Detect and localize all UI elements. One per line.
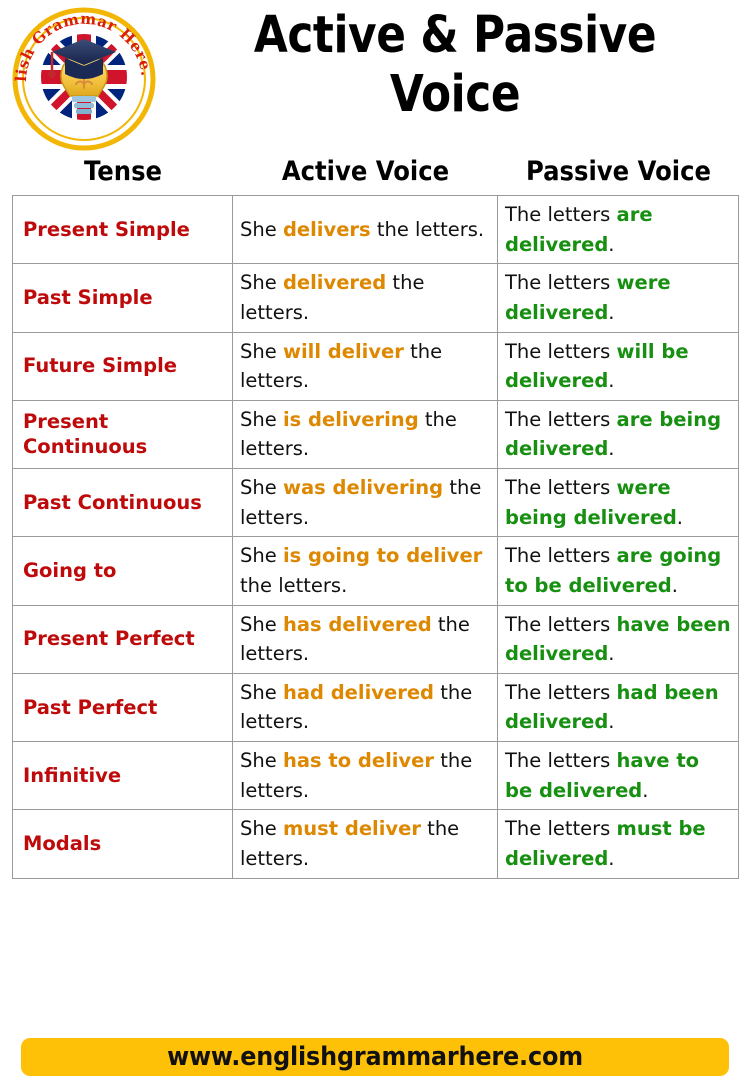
verb-phrase-active: had delivered — [283, 681, 434, 704]
sentence-pre: The letters — [505, 340, 617, 363]
page-title: Active & Passive Voice — [210, 6, 700, 124]
sentence-pre: The letters — [505, 544, 617, 567]
passive-voice-sentence: The letters must be delivered. — [498, 810, 739, 878]
table-row: Infinitive She has to deliver the letter… — [13, 742, 739, 810]
verb-phrase-active: delivers — [283, 218, 371, 241]
tense-label: Present Perfect — [13, 605, 233, 673]
active-voice-sentence: She will deliver the letters. — [233, 332, 498, 400]
english-grammar-here-logo-icon: English Grammar Here.Com — [8, 6, 160, 154]
verb-phrase-active: must deliver — [283, 817, 421, 840]
header: English Grammar Here.Com Active & Passiv… — [0, 0, 750, 152]
voice-table-wrapper: Tense Active Voice Passive Voice Present… — [12, 156, 738, 879]
sentence-pre: The letters — [505, 271, 617, 294]
table-row: Past Continuous She was delivering the l… — [13, 469, 739, 537]
table-row: Past Simple She delivered the letters. T… — [13, 264, 739, 332]
active-voice-sentence: She is going to deliver the letters. — [233, 537, 498, 605]
tense-label: Infinitive — [13, 742, 233, 810]
column-header-active-voice: Active Voice — [246, 156, 485, 196]
website-url: www.englishgrammarhere.com — [167, 1042, 583, 1072]
table-header-row: Tense Active Voice Passive Voice — [13, 156, 739, 196]
verb-phrase-active: is delivering — [283, 408, 419, 431]
passive-voice-sentence: The letters will be delivered. — [498, 332, 739, 400]
active-voice-sentence: She has delivered the letters. — [233, 605, 498, 673]
sentence-pre: The letters — [505, 817, 617, 840]
passive-voice-sentence: The letters are delivered. — [498, 196, 739, 264]
sentence-pre: She — [240, 681, 283, 704]
table-row: Past Perfect She had delivered the lette… — [13, 673, 739, 741]
sentence-post: . — [608, 642, 614, 665]
column-header-tense: Tense — [24, 156, 222, 196]
table-row: Present Continuous She is delivering the… — [13, 400, 739, 468]
passive-voice-sentence: The letters had been delivered. — [498, 673, 739, 741]
table-row: Future Simple She will deliver the lette… — [13, 332, 739, 400]
tense-label: Future Simple — [13, 332, 233, 400]
sentence-pre: The letters — [505, 681, 617, 704]
sentence-post: . — [642, 779, 648, 802]
sentence-pre: She — [240, 340, 283, 363]
passive-voice-sentence: The letters were being delivered. — [498, 469, 739, 537]
sentence-post: the letters. — [240, 574, 347, 597]
sentence-pre: The letters — [505, 203, 617, 226]
table-row: Present Simple She delivers the letters.… — [13, 196, 739, 264]
sentence-pre: The letters — [505, 476, 617, 499]
sentence-post: . — [677, 506, 683, 529]
tense-label: Past Continuous — [13, 469, 233, 537]
sentence-pre: She — [240, 613, 283, 636]
sentence-pre: The letters — [505, 749, 617, 772]
table-row: Present Perfect She has delivered the le… — [13, 605, 739, 673]
verb-phrase-active: has to deliver — [283, 749, 434, 772]
verb-phrase-active: will deliver — [283, 340, 404, 363]
sentence-pre: She — [240, 218, 283, 241]
passive-voice-sentence: The letters have been delivered. — [498, 605, 739, 673]
tense-label: Past Simple — [13, 264, 233, 332]
sentence-pre: The letters — [505, 613, 617, 636]
sentence-pre: The letters — [505, 408, 617, 431]
active-voice-sentence: She delivered the letters. — [233, 264, 498, 332]
sentence-pre: She — [240, 476, 283, 499]
sentence-post: the letters. — [371, 218, 484, 241]
active-voice-sentence: She has to deliver the letters. — [233, 742, 498, 810]
sentence-post: . — [608, 301, 614, 324]
website-banner[interactable]: www.englishgrammarhere.com — [21, 1038, 729, 1076]
tense-label: Past Perfect — [13, 673, 233, 741]
table-body: Present Simple She delivers the letters.… — [13, 196, 739, 879]
verb-phrase-active: was delivering — [283, 476, 443, 499]
active-voice-sentence: She was delivering the letters. — [233, 469, 498, 537]
verb-phrase-active: has delivered — [283, 613, 432, 636]
table-row: Going to She is going to deliver the let… — [13, 537, 739, 605]
active-passive-voice-table: Tense Active Voice Passive Voice Present… — [12, 156, 739, 879]
verb-phrase-active: delivered — [283, 271, 386, 294]
sentence-pre: She — [240, 408, 283, 431]
verb-phrase-active: is going to deliver — [283, 544, 482, 567]
table-row: Modals She must deliver the letters. The… — [13, 810, 739, 878]
column-header-passive-voice: Passive Voice — [510, 156, 727, 196]
sentence-post: . — [608, 847, 614, 870]
sentence-post: . — [608, 437, 614, 460]
sentence-post: . — [672, 574, 678, 597]
sentence-pre: She — [240, 749, 283, 772]
active-voice-sentence: She had delivered the letters. — [233, 673, 498, 741]
active-voice-sentence: She delivers the letters. — [233, 196, 498, 264]
passive-voice-sentence: The letters are being delivered. — [498, 400, 739, 468]
sentence-post: . — [608, 369, 614, 392]
sentence-pre: She — [240, 544, 283, 567]
active-passive-voice-infographic: English Grammar Here.Com Active & Passiv… — [0, 0, 750, 1087]
sentence-post: . — [608, 233, 614, 256]
tense-label: Present Continuous — [13, 400, 233, 468]
passive-voice-sentence: The letters have to be delivered. — [498, 742, 739, 810]
table-header: Tense Active Voice Passive Voice — [13, 156, 739, 196]
sentence-pre: She — [240, 817, 283, 840]
active-voice-sentence: She is delivering the letters. — [233, 400, 498, 468]
passive-voice-sentence: The letters were delivered. — [498, 264, 739, 332]
tense-label: Going to — [13, 537, 233, 605]
active-voice-sentence: She must deliver the letters. — [233, 810, 498, 878]
sentence-pre: She — [240, 271, 283, 294]
sentence-post: . — [608, 710, 614, 733]
tense-label: Present Simple — [13, 196, 233, 264]
passive-voice-sentence: The letters are going to be delivered. — [498, 537, 739, 605]
tense-label: Modals — [13, 810, 233, 878]
